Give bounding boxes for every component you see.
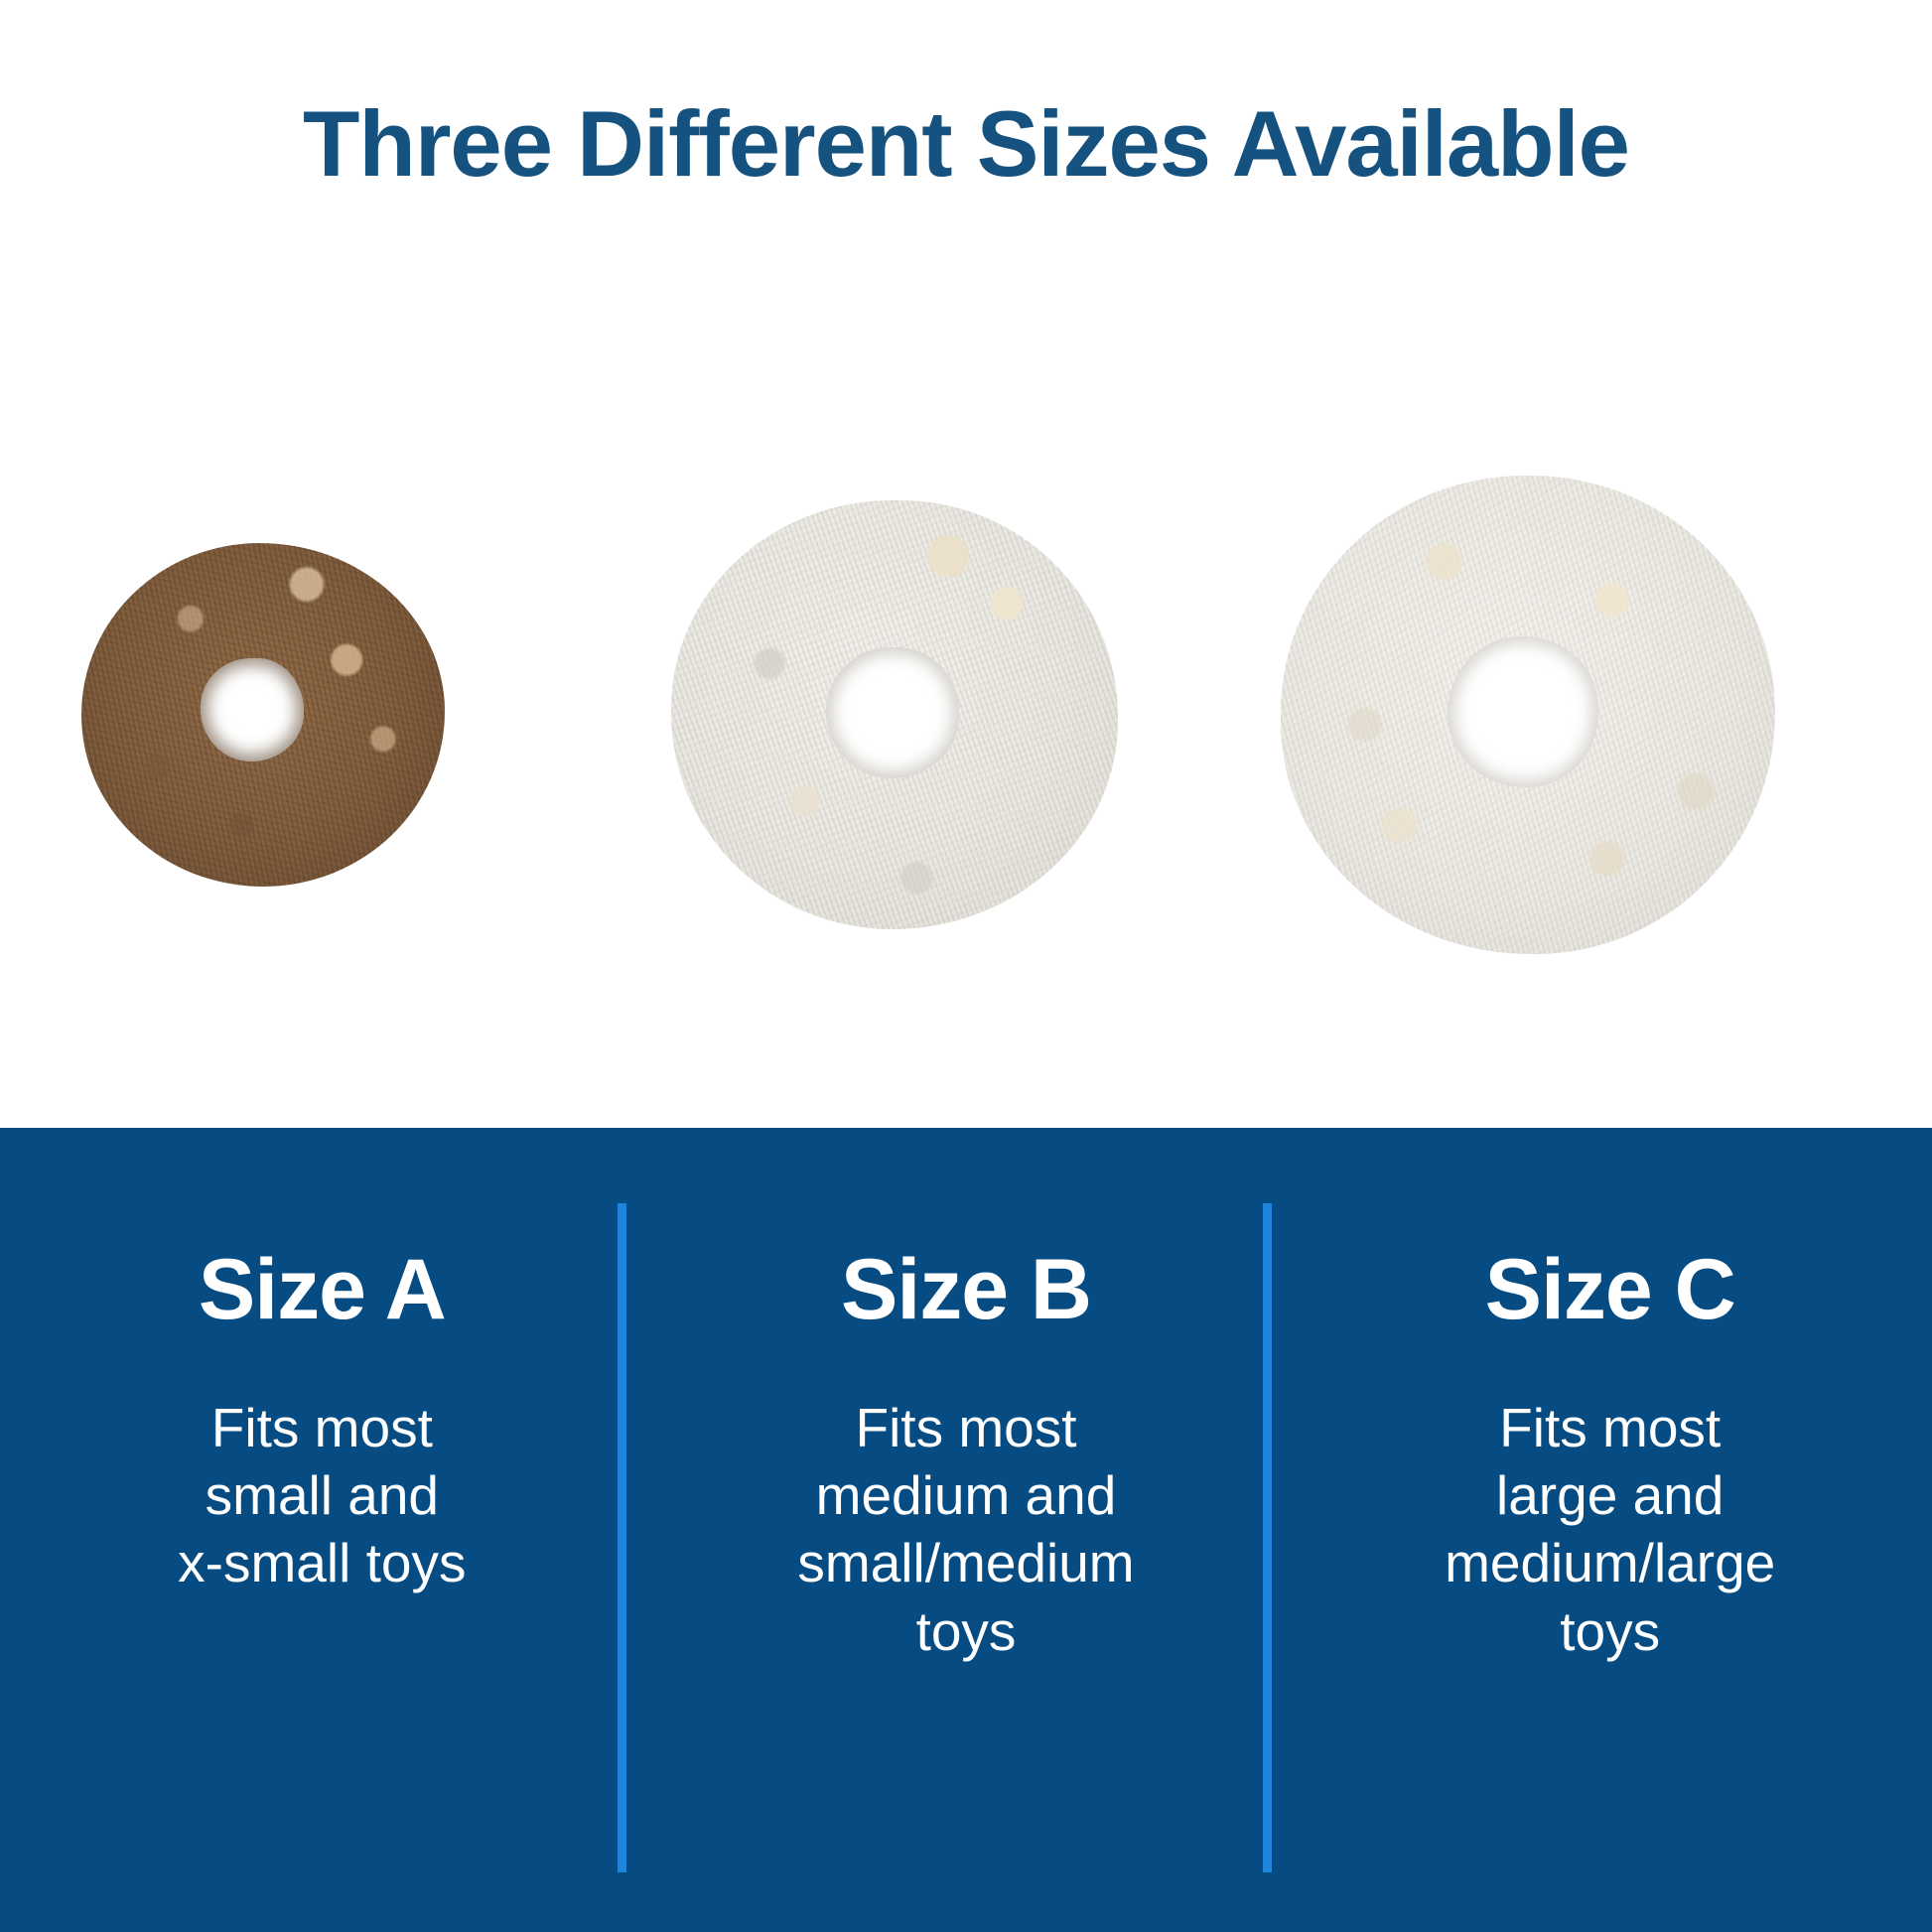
ring-treat-size-a-icon	[81, 543, 445, 887]
size-description-a: Fits most small and x-small toys	[103, 1394, 540, 1597]
size-column-c: Size C Fits most large and medium/large …	[1288, 1128, 1932, 1932]
size-label-c: Size C	[1288, 1247, 1932, 1332]
size-label-b: Size B	[644, 1247, 1289, 1332]
size-label-a: Size A	[0, 1247, 644, 1332]
ring-treat-size-c-icon	[1281, 476, 1775, 954]
page-title-area: Three Different Sizes Available	[0, 95, 1932, 194]
size-column-b: Size B Fits most medium and small/medium…	[644, 1128, 1289, 1932]
size-description-c: Fits most large and medium/large toys	[1392, 1394, 1829, 1665]
size-guide-page: Three Different Sizes Available Size A F…	[0, 0, 1932, 1932]
product-image-size-a	[81, 543, 445, 887]
size-description-b: Fits most medium and small/medium toys	[748, 1394, 1184, 1665]
product-image-size-b	[671, 500, 1118, 929]
product-photo-row	[0, 367, 1932, 1062]
ring-treat-size-b-icon	[671, 500, 1118, 929]
size-info-panel: Size A Fits most small and x-small toys …	[0, 1128, 1932, 1932]
size-columns: Size A Fits most small and x-small toys …	[0, 1128, 1932, 1932]
page-title: Three Different Sizes Available	[0, 95, 1932, 194]
size-column-a: Size A Fits most small and x-small toys	[0, 1128, 644, 1932]
product-image-size-c	[1281, 476, 1775, 954]
